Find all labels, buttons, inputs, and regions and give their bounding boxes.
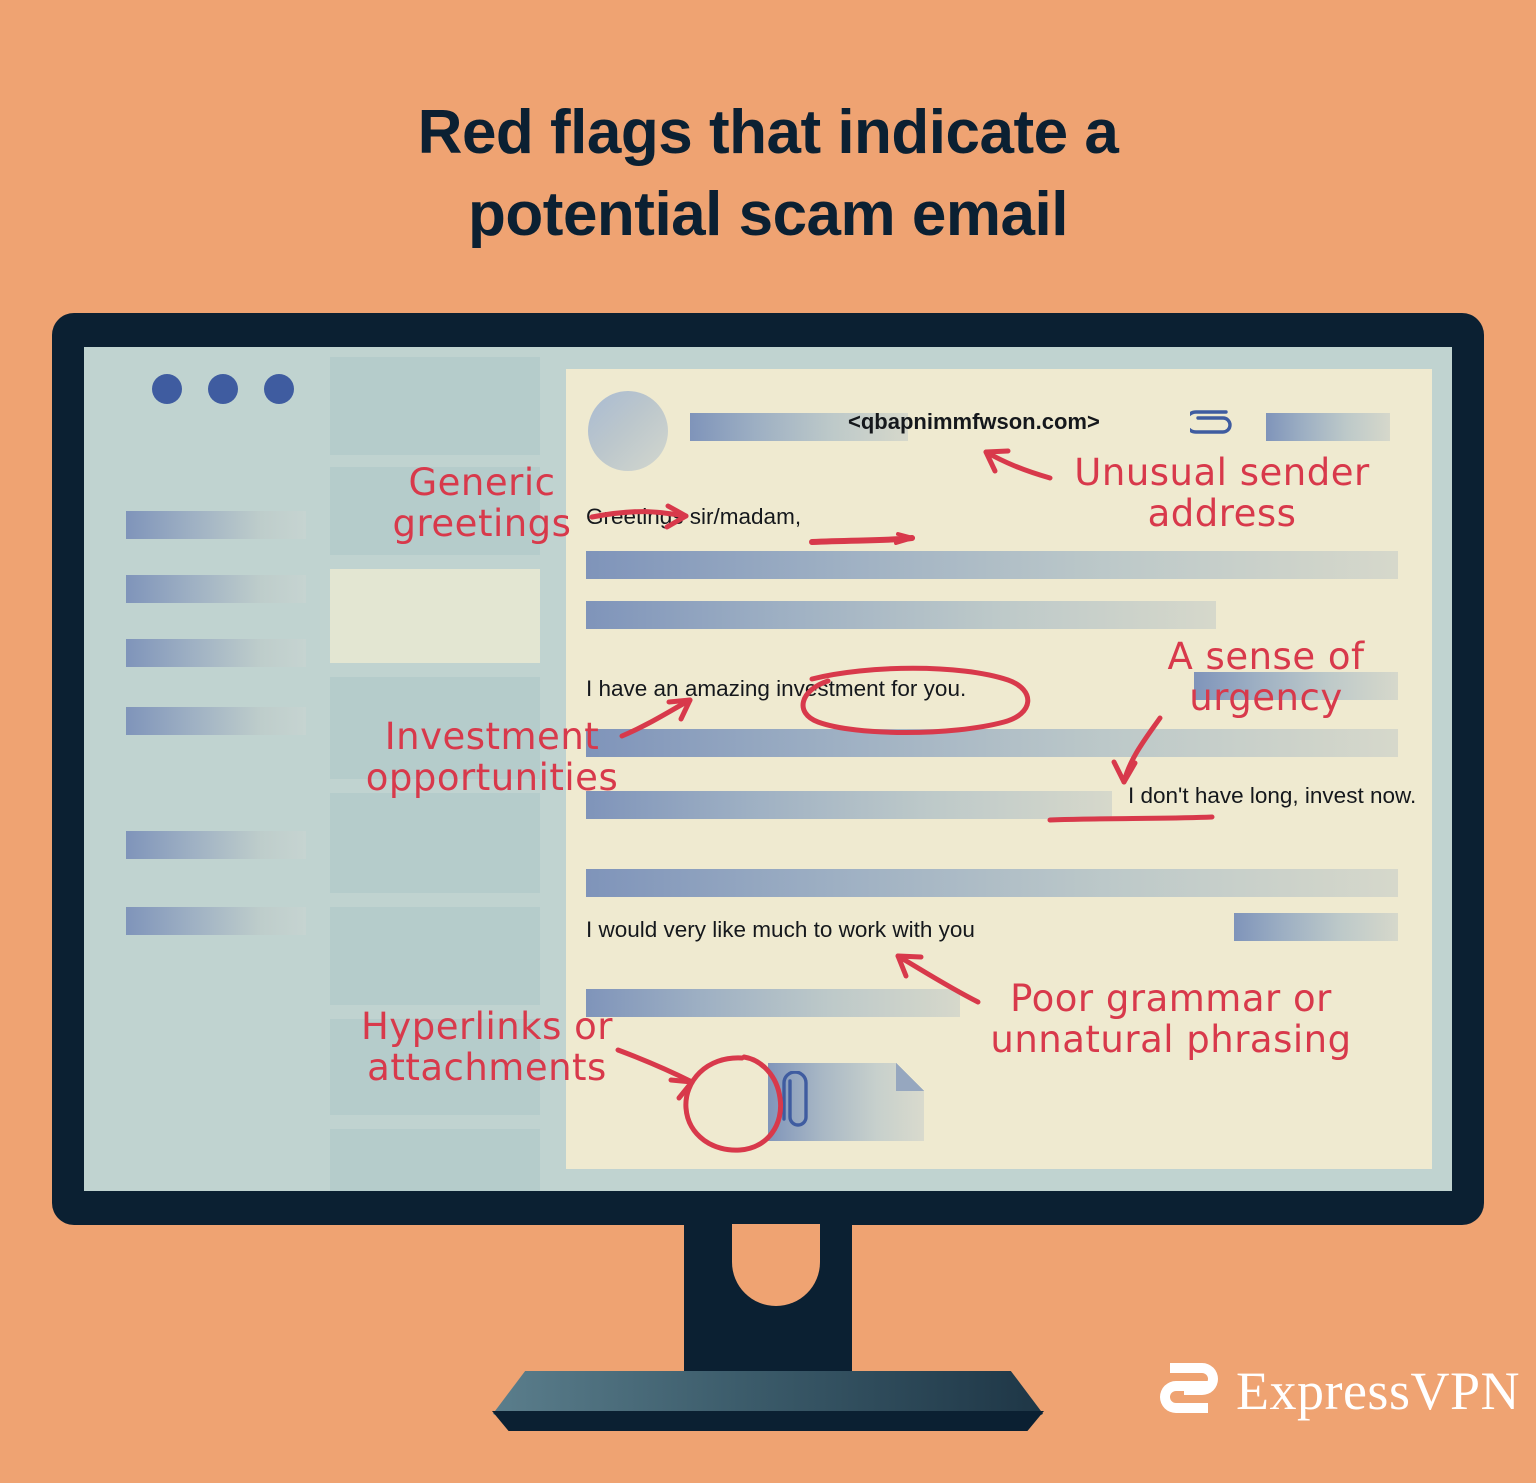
monitor-frame: <qbapnimmfwson.com> Greetings sir/madam,…: [52, 313, 1484, 1225]
page-fold-corner-icon: [896, 1063, 924, 1091]
list-item[interactable]: [330, 569, 540, 663]
monitor-base-shadow: [492, 1411, 1044, 1431]
list-item[interactable]: [330, 907, 540, 1005]
brand-logo: ExpressVPN: [1158, 1355, 1520, 1426]
page-title-line-1: Red flags that indicate a: [0, 92, 1536, 174]
redacted-body-line: [586, 869, 1398, 897]
sidebar-item-1[interactable]: [126, 511, 306, 539]
brand-name: ExpressVPN: [1236, 1360, 1520, 1422]
monitor-neck-cutout: [732, 1224, 820, 1306]
page-title: Red flags that indicate a potential scam…: [0, 92, 1536, 257]
redacted-body-line: [586, 551, 1398, 579]
monitor-neck: [684, 1225, 852, 1373]
redacted-body-line: [586, 989, 960, 1017]
annotation-unusual-sender-address: Unusual sender address: [1052, 452, 1392, 535]
redacted-body-line: [586, 729, 1398, 757]
redacted-body-line: [586, 791, 1112, 819]
list-item[interactable]: [330, 793, 540, 893]
window-dot-minimize-icon[interactable]: [208, 374, 238, 404]
email-body-urgency: I don't have long, invest now.: [1128, 783, 1416, 809]
annotation-investment-opportunities: Investment opportunities: [356, 716, 628, 799]
sidebar-item-2[interactable]: [126, 575, 306, 603]
redacted-body-line: [1234, 913, 1398, 941]
sidebar-item-5[interactable]: [126, 831, 306, 859]
window-dot-close-icon[interactable]: [152, 374, 182, 404]
list-item[interactable]: [330, 1129, 540, 1191]
annotation-sense-of-urgency: A sense of urgency: [1134, 636, 1398, 719]
annotation-poor-grammar: Poor grammar or unnatural phrasing: [984, 978, 1358, 1061]
annotation-generic-greetings: Generic greetings: [372, 462, 592, 545]
email-body-greeting: Greetings sir/madam,: [586, 504, 801, 530]
email-body-investment: I have an amazing investment for you.: [586, 676, 966, 702]
sidebar-item-6[interactable]: [126, 907, 306, 935]
paperclip-icon[interactable]: [778, 1071, 818, 1135]
monitor-base-top: [492, 1371, 1044, 1415]
email-body-grammar: I would very like much to work with you: [586, 917, 975, 943]
window-dot-maximize-icon[interactable]: [264, 374, 294, 404]
list-item[interactable]: [330, 357, 540, 455]
monitor-base: [492, 1371, 1044, 1431]
window-controls: [152, 374, 294, 404]
sidebar-item-3[interactable]: [126, 639, 306, 667]
annotation-hyperlinks-attachments: Hyperlinks or attachments: [344, 1006, 630, 1089]
sender-address: <qbapnimmfwson.com>: [848, 409, 1100, 435]
redacted-header-meta: [1266, 413, 1390, 441]
page-title-line-2: potential scam email: [0, 174, 1536, 256]
sidebar-item-4[interactable]: [126, 707, 306, 735]
avatar: [588, 391, 668, 471]
redacted-body-line: [586, 601, 1216, 629]
paperclip-icon[interactable]: [1190, 409, 1234, 439]
expressvpn-mark-icon: [1158, 1355, 1220, 1426]
